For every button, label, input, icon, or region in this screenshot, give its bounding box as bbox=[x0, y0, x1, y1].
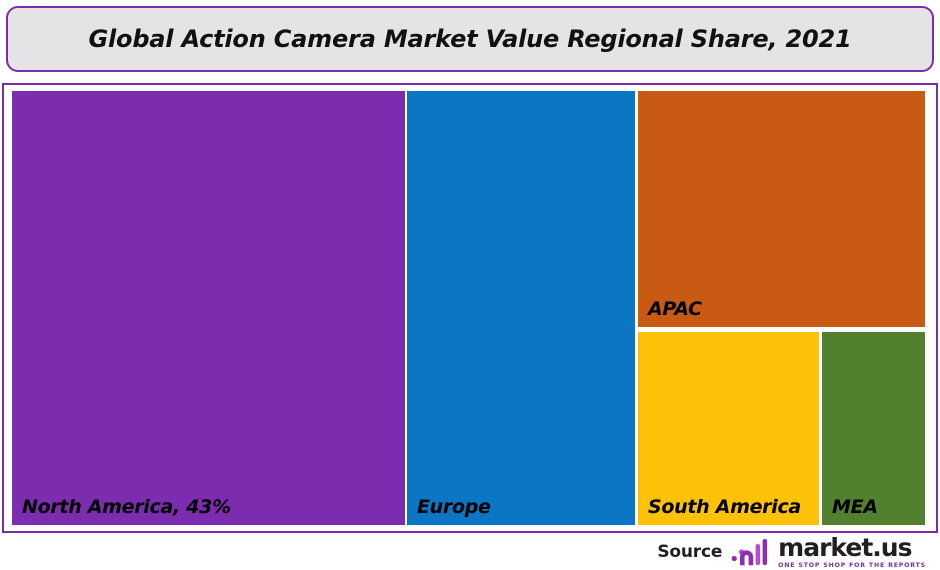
infographic-root: Global Action Camera Market Value Region… bbox=[0, 0, 940, 570]
treemap-tile-label: Europe bbox=[417, 496, 491, 518]
treemap-tile-label: APAC bbox=[648, 298, 702, 320]
treemap-chart: North America, 43% Europe APAC South Ame… bbox=[4, 85, 936, 531]
chart-panel: North America, 43% Europe APAC South Ame… bbox=[2, 83, 938, 533]
treemap-tile-label: South America bbox=[648, 496, 801, 518]
treemap-tile-north-america[interactable]: North America, 43% bbox=[12, 91, 405, 525]
treemap-tile-label: North America, 43% bbox=[22, 496, 231, 518]
treemap-tile-mea[interactable]: MEA bbox=[822, 332, 925, 525]
market-us-logo-icon bbox=[731, 537, 773, 567]
page-title: Global Action Camera Market Value Region… bbox=[89, 25, 852, 53]
chart-title-box: Global Action Camera Market Value Region… bbox=[6, 6, 934, 72]
treemap-tile-apac[interactable]: APAC bbox=[638, 91, 925, 327]
source-label: Source bbox=[657, 542, 722, 562]
market-us-logo[interactable]: market.us ONE STOP SHOP FOR THE REPORTS bbox=[731, 535, 926, 569]
source-footer: Source market.us ONE STOP SHOP FOR THE R… bbox=[0, 533, 940, 570]
treemap-tile-europe[interactable]: Europe bbox=[407, 91, 635, 525]
treemap-tile-south-america[interactable]: South America bbox=[638, 332, 819, 525]
brand-tagline: ONE STOP SHOP FOR THE REPORTS bbox=[778, 562, 926, 569]
treemap-tile-label: MEA bbox=[832, 496, 878, 518]
brand-name: market.us bbox=[778, 535, 926, 560]
market-us-wordmark: market.us ONE STOP SHOP FOR THE REPORTS bbox=[778, 535, 926, 569]
